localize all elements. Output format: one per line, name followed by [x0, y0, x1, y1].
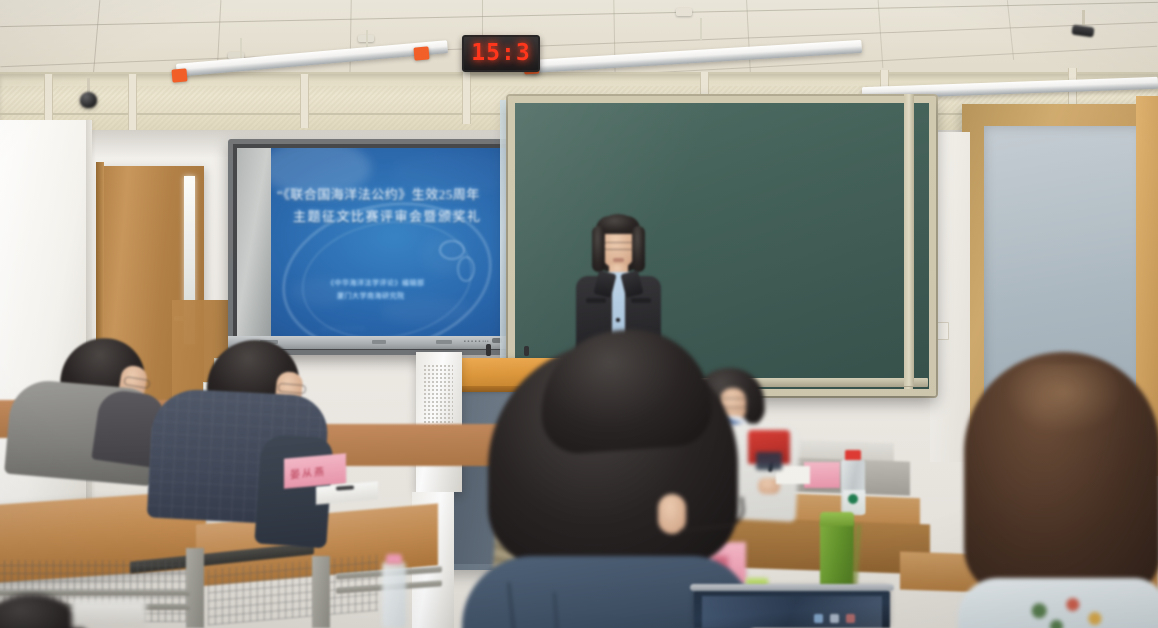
slide-title-line-2: 主题征文比赛评审会暨颁奖礼 — [293, 206, 482, 225]
light-suspension-rod — [700, 18, 702, 40]
light-end-cap — [413, 46, 429, 60]
bottle-label-logo — [848, 494, 858, 504]
slide-org-line-2: 厦门大学南海研究院 — [337, 291, 405, 301]
foreground-hair-crown — [536, 324, 714, 456]
laptop-lid-edge — [690, 584, 894, 591]
desk-paper — [72, 600, 146, 628]
left-wall-corner — [86, 120, 96, 550]
dome-camera-icon — [80, 92, 97, 108]
led-wall-clock: 15:3 — [462, 35, 540, 72]
wall-outlet-icon[interactable] — [934, 322, 949, 340]
bottle-cap-icon — [845, 450, 861, 460]
soffit-post — [128, 74, 137, 132]
presenter-hair-side — [592, 226, 605, 272]
name-card-text: 晏从燕 — [290, 463, 326, 481]
desk-leg — [186, 548, 204, 628]
slide-bg-island — [457, 256, 475, 282]
wall-display-panel[interactable]: “《联合国海洋法公约》生效25周年 主题征文比赛评审会暨颁奖礼 《中华海洋法学评… — [228, 139, 526, 355]
display-screen: “《联合国海洋法公约》生效25周年 主题征文比赛评审会暨颁奖礼 《中华海洋法学评… — [271, 148, 517, 346]
laptop-screen-content — [702, 596, 882, 628]
hair-highlight — [1004, 364, 1124, 434]
slide-title-line-1: “《联合国海洋法公约》生效25周年 — [277, 184, 480, 203]
presenter-jacket-button — [616, 318, 620, 322]
display-button[interactable] — [372, 340, 386, 344]
light-end-cap — [171, 68, 187, 82]
soffit-post — [462, 72, 471, 124]
attendee-left-1 — [6, 338, 166, 468]
blouse-floral-print — [1020, 590, 1116, 628]
presenter-glasses-icon — [604, 242, 635, 250]
classroom-photo-scene: 15:3 “《联合国海洋法公约》生效25周年 — [0, 0, 1158, 628]
laptop-screen[interactable] — [756, 452, 782, 470]
laptop-screen[interactable] — [694, 588, 890, 628]
chalkboard-right-rail — [904, 94, 914, 386]
attendee-left-2 — [150, 340, 340, 530]
ceiling-sensor — [676, 8, 692, 16]
attendee-right-fg — [964, 352, 1158, 628]
soffit-post — [300, 74, 309, 128]
audio-speaker-cabinet — [416, 352, 462, 492]
slide-org-line-1: 《中华海洋法学评论》编辑部 — [327, 278, 425, 288]
display-button[interactable] — [436, 340, 452, 344]
laptop-taskbar-icon[interactable] — [814, 614, 823, 623]
presenter-pocket-flap — [631, 298, 651, 303]
presenter-mouth — [613, 258, 624, 262]
pink-cap-bottle[interactable] — [382, 562, 406, 628]
desk-leg — [312, 556, 330, 628]
laptop-taskbar-icon[interactable] — [846, 614, 855, 623]
clock-time-display: 15:3 — [464, 40, 538, 66]
pink-bottle-cap-icon — [386, 554, 402, 564]
bullet-camera-bracket — [1082, 10, 1085, 26]
presenter-pocket-flap — [586, 298, 606, 303]
foreground-glasses-icon — [677, 497, 747, 533]
slide-bg-foam — [381, 298, 471, 324]
name-card: 晏从燕 — [284, 453, 346, 488]
laptop-taskbar-icon[interactable] — [830, 614, 839, 623]
green-bottle-cap-icon — [820, 512, 854, 526]
display-left-glass-strip — [237, 148, 271, 346]
slide-footer-watermark: — — — — — — — [321, 326, 365, 332]
